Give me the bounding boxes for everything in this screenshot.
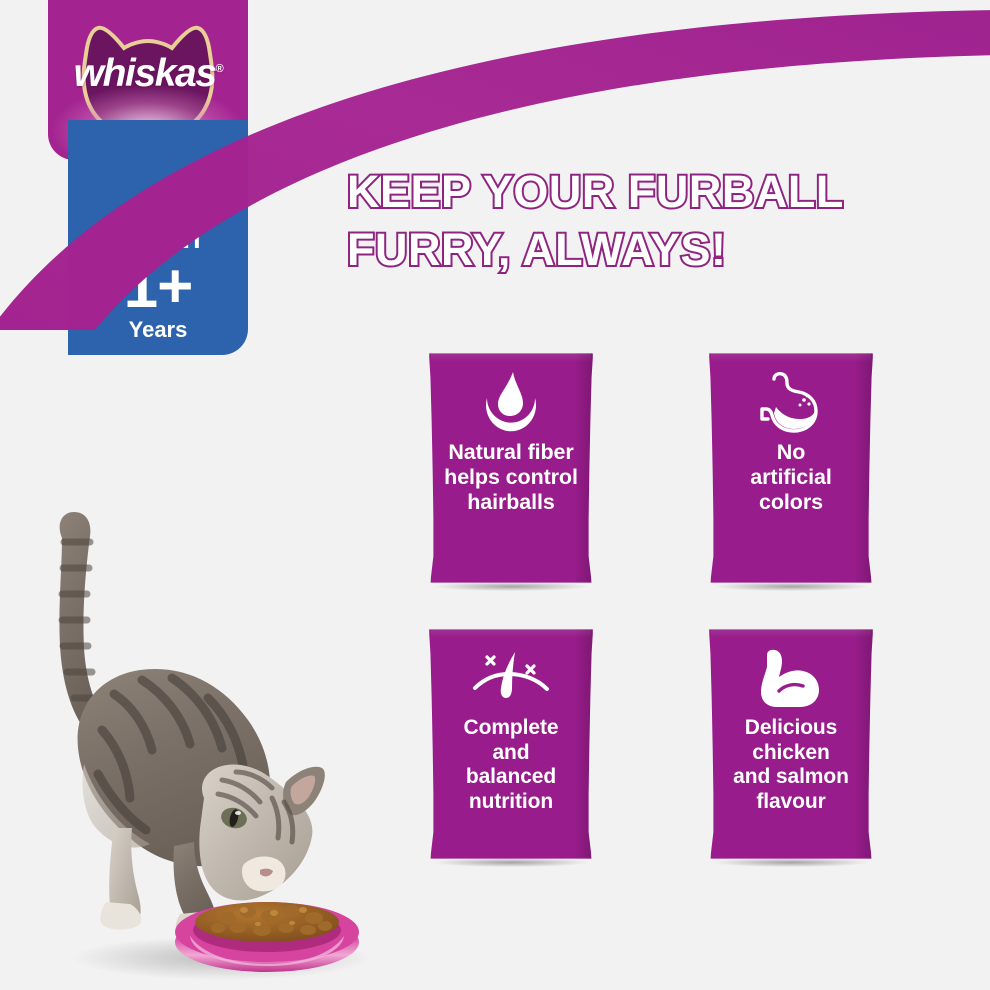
bag-top-highlight <box>711 353 871 362</box>
bag-shadow <box>434 858 587 867</box>
cat-illustration <box>22 498 392 990</box>
bag-caption: Delicious chicken and salmon flavour <box>712 716 870 814</box>
caption-line: nutrition <box>469 790 553 813</box>
hairball-droplet-icon <box>424 366 598 440</box>
caption-line: hairballs <box>467 490 555 514</box>
banner-canvas: whiskas® ADULT 1+ Years KEEP YOUR FURBAL… <box>0 0 990 990</box>
cat-eating-photo <box>22 498 392 990</box>
caption-line: balanced <box>466 765 556 788</box>
caption-line: No <box>777 440 805 464</box>
cat-eye-glint <box>235 811 241 815</box>
caption-line: artificial <box>750 465 831 489</box>
bag-top-highlight <box>431 629 591 638</box>
badge-line-adult: ADULT <box>68 226 248 253</box>
headline-line-1: KEEP YOUR FURBALL <box>347 166 844 217</box>
caption-line: flavour <box>756 790 825 813</box>
caption-line: and salmon <box>733 765 849 788</box>
badge-line-years: Years <box>68 319 248 341</box>
caption-line: Natural fiber <box>448 440 573 464</box>
hair-follicle-sparkle-icon <box>424 642 598 716</box>
badge-line-age: 1+ <box>68 255 248 318</box>
caption-line: Delicious <box>745 716 837 739</box>
headline-line-2: FURRY, ALWAYS! <box>347 221 907 279</box>
caption-line: colors <box>759 490 823 514</box>
bag-shadow <box>434 582 587 591</box>
stomach-digestion-icon <box>704 366 878 440</box>
bag-top-highlight <box>431 353 591 362</box>
flexed-bicep-icon <box>704 642 878 716</box>
bag-caption: No artificial colors <box>712 440 870 515</box>
feature-bag-no-artificial-colors[interactable]: No artificial colors <box>704 352 878 584</box>
feature-bag-natural-fiber[interactable]: Natural fiber helps control hairballs <box>424 352 598 584</box>
caption-line: Complete <box>464 716 559 739</box>
trademark-symbol: ® <box>216 63 223 75</box>
cat-tail-stripes <box>62 542 98 698</box>
feature-bag-chicken-salmon[interactable]: Delicious chicken and salmon flavour <box>704 628 878 860</box>
bag-shadow <box>714 858 867 867</box>
adult-age-badge: ADULT 1+ Years <box>68 120 248 355</box>
caption-line: helps control <box>444 465 578 489</box>
bag-shadow <box>714 582 867 591</box>
bag-caption: Complete and balanced nutrition <box>432 716 590 814</box>
caption-line: chicken <box>752 741 830 764</box>
feature-bag-complete-nutrition[interactable]: Complete and balanced nutrition <box>424 628 598 860</box>
whiskas-wordmark: whiskas® <box>48 54 248 93</box>
bag-top-highlight <box>711 629 871 638</box>
page-title: KEEP YOUR FURBALL FURRY, ALWAYS! <box>347 163 907 278</box>
bag-caption: Natural fiber helps control hairballs <box>432 440 590 515</box>
caption-line: and <box>492 741 529 764</box>
